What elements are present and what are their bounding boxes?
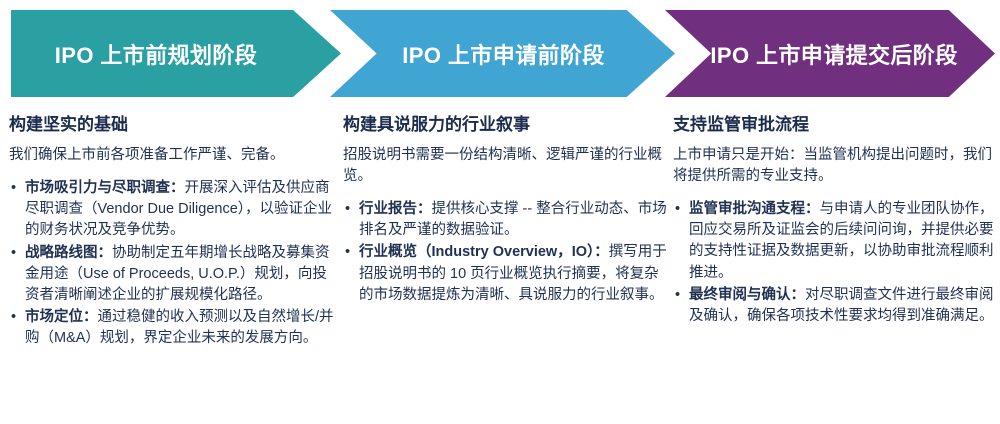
- bullet-lead: 最终审阅与确认：: [689, 287, 805, 303]
- column-intro-foundation: 我们确保上市前各项准备工作严谨、完备。: [9, 145, 339, 166]
- column-intro-regulatory-support: 上市申请只是开始：当监管机构提出问题时，我们将提供所需的专业支持。: [673, 145, 995, 187]
- list-item: • 市场吸引力与尽职调查：开展深入评估及供应商尽职调查（Vendor Due D…: [9, 178, 339, 241]
- list-item: • 最终审阅与确认：对尽职调查文件进行最终审阅及确认，确保各项技术性要求均得到准…: [673, 285, 995, 327]
- column-regulatory-support: 支持监管审批流程 上市申请只是开始：当监管机构提出问题时，我们将提供所需的专业支…: [673, 104, 995, 328]
- bullet-lead: 战略路线图：: [25, 245, 112, 261]
- bullet-list-foundation: • 市场吸引力与尽职调查：开展深入评估及供应商尽职调查（Vendor Due D…: [9, 178, 339, 349]
- list-item: • 行业报告：提供核心支撑 -- 整合行业动态、市场排名及严谨的数据验证。: [343, 199, 669, 241]
- list-item: • 战略路线图：协助制定五年期增长战略及募集资金用途（Use of Procee…: [9, 243, 339, 306]
- column-industry-narrative: 构建具说服力的行业叙事 招股说明书需要一份结构清晰、逻辑严谨的行业概览。 • 行…: [343, 104, 669, 307]
- stage-chevron-post-submission[interactable]: IPO 上市申请提交后阶段: [665, 10, 995, 97]
- bullet-dot-icon: •: [675, 199, 680, 220]
- stage-title-post-submission: IPO 上市申请提交后阶段: [710, 38, 957, 70]
- bullet-lead: 市场吸引力与尽职调查：: [25, 180, 185, 196]
- bullet-dot-icon: •: [11, 178, 16, 199]
- list-item: • 行业概览（Industry Overview，IO）：撰写用于招股说明书的 …: [343, 242, 669, 305]
- stage-chevron-band: IPO 上市前规划阶段 IPO 上市申请前阶段 IPO 上市申请提交后阶段: [0, 0, 1000, 100]
- list-item: • 监管审批沟通支程：与申请人的专业团队协作，回应交易所及证监会的后续问问询，并…: [673, 199, 995, 284]
- bullet-lead: 行业概览（Industry Overview，IO）：: [359, 244, 609, 260]
- ipo-process-slide: IPO 上市前规划阶段 IPO 上市申请前阶段 IPO 上市申请提交后阶段 构建…: [0, 0, 1000, 424]
- bullet-dot-icon: •: [11, 307, 16, 328]
- bullet-dot-icon: •: [675, 285, 680, 306]
- column-heading-industry-narrative: 构建具说服力的行业叙事: [343, 114, 669, 136]
- column-heading-foundation: 构建坚实的基础: [9, 114, 339, 136]
- list-item: • 市场定位：通过稳健的收入预测以及自然增长/并购（M&A）规划，界定企业未来的…: [9, 307, 339, 349]
- stage-title-pre-ipo-planning: IPO 上市前规划阶段: [55, 38, 257, 70]
- column-intro-industry-narrative: 招股说明书需要一份结构清晰、逻辑严谨的行业概览。: [343, 145, 669, 187]
- stage-title-pre-application: IPO 上市申请前阶段: [402, 38, 604, 70]
- stage-detail-columns: 构建坚实的基础 我们确保上市前各项准备工作严谨、完备。 • 市场吸引力与尽职调查…: [0, 104, 1000, 424]
- bullet-lead: 监管审批沟通支程：: [689, 201, 820, 217]
- column-foundation: 构建坚实的基础 我们确保上市前各项准备工作严谨、完备。 • 市场吸引力与尽职调查…: [9, 104, 339, 350]
- bullet-list-regulatory-support: • 监管审批沟通支程：与申请人的专业团队协作，回应交易所及证监会的后续问问询，并…: [673, 199, 995, 327]
- bullet-list-industry-narrative: • 行业报告：提供核心支撑 -- 整合行业动态、市场排名及严谨的数据验证。 • …: [343, 199, 669, 306]
- bullet-dot-icon: •: [345, 242, 350, 263]
- bullet-dot-icon: •: [345, 199, 350, 220]
- column-heading-regulatory-support: 支持监管审批流程: [673, 114, 995, 136]
- stage-chevron-pre-application[interactable]: IPO 上市申请前阶段: [330, 10, 675, 97]
- bullet-lead: 行业报告：: [359, 201, 432, 217]
- bullet-lead: 市场定位：: [25, 309, 98, 325]
- bullet-dot-icon: •: [11, 243, 16, 264]
- stage-chevron-pre-ipo-planning[interactable]: IPO 上市前规划阶段: [11, 10, 341, 97]
